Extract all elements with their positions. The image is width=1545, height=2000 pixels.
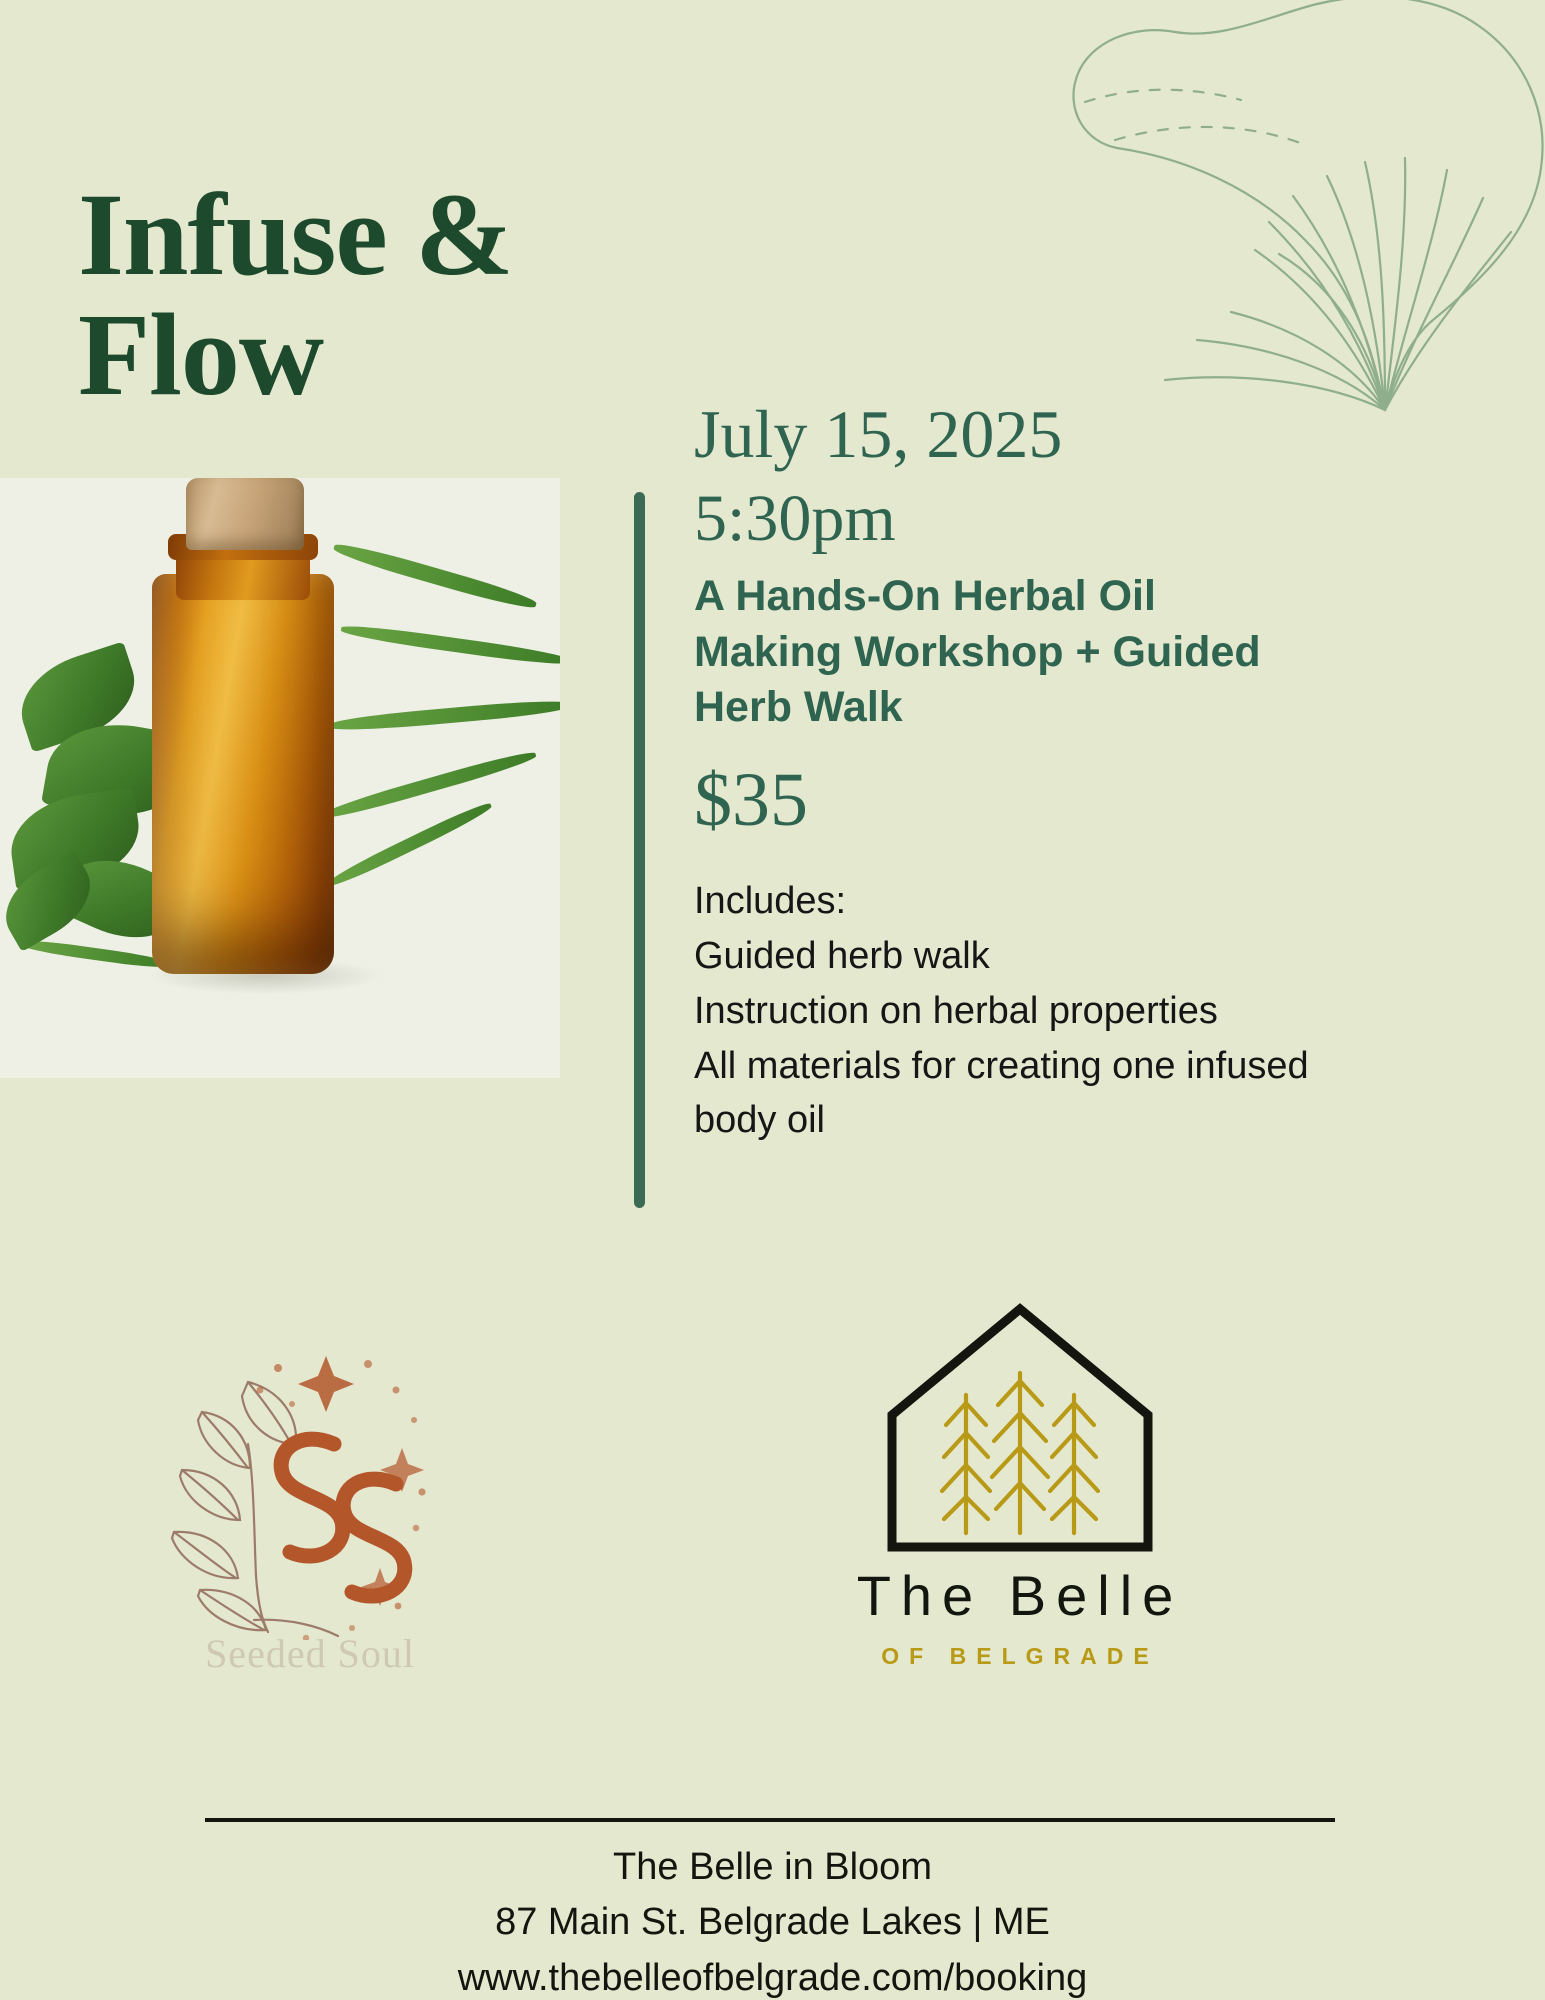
seeded-soul-logo: Seeded Soul bbox=[130, 1320, 490, 1720]
flyer-canvas: Infuse & Flow July 15, 2025 5:30pm A Han… bbox=[0, 0, 1545, 2000]
herbal-oil-bottle-photo bbox=[0, 478, 560, 1078]
footer-address: 87 Main St. Belgrade Lakes | ME bbox=[0, 1895, 1545, 1950]
event-details: July 15, 2025 5:30pm A Hands-On Herbal O… bbox=[694, 398, 1334, 1148]
belle-logo-subtitle: OF BELGRADE bbox=[810, 1643, 1230, 1670]
event-price: $35 bbox=[694, 762, 1334, 838]
page-title: Infuse & Flow bbox=[78, 175, 698, 416]
title-line-1: Infuse & bbox=[78, 175, 698, 295]
includes-heading: Includes: bbox=[694, 874, 1314, 929]
footer-venue: The Belle in Bloom bbox=[0, 1840, 1545, 1895]
footer: The Belle in Bloom 87 Main St. Belgrade … bbox=[0, 1840, 1545, 2000]
cork-stopper bbox=[186, 478, 304, 550]
house-with-pines-icon bbox=[830, 1295, 1210, 1565]
includes-item: Guided herb walk bbox=[694, 929, 1314, 984]
event-date: July 15, 2025 bbox=[694, 398, 1334, 471]
event-time: 5:30pm bbox=[694, 483, 1334, 554]
title-line-2: Flow bbox=[78, 295, 698, 415]
includes-item: All materials for creating one infused b… bbox=[694, 1039, 1314, 1148]
seeded-soul-name: Seeded Soul bbox=[130, 1630, 490, 1677]
bottle-body bbox=[152, 574, 334, 974]
event-description: A Hands-On Herbal Oil Making Workshop + … bbox=[694, 569, 1314, 737]
vertical-divider bbox=[634, 492, 645, 1208]
belle-of-belgrade-logo: The Belle OF BELGRADE bbox=[830, 1295, 1210, 1715]
includes-list: Includes: Guided herb walk Instruction o… bbox=[694, 874, 1314, 1148]
footer-divider bbox=[205, 1818, 1335, 1822]
includes-item: Instruction on herbal properties bbox=[694, 984, 1314, 1039]
belle-logo-name: The Belle bbox=[810, 1563, 1230, 1628]
footer-website[interactable]: www.thebelleofbelgrade.com/booking bbox=[0, 1951, 1545, 2000]
seeded-soul-mark-icon bbox=[130, 1320, 490, 1640]
